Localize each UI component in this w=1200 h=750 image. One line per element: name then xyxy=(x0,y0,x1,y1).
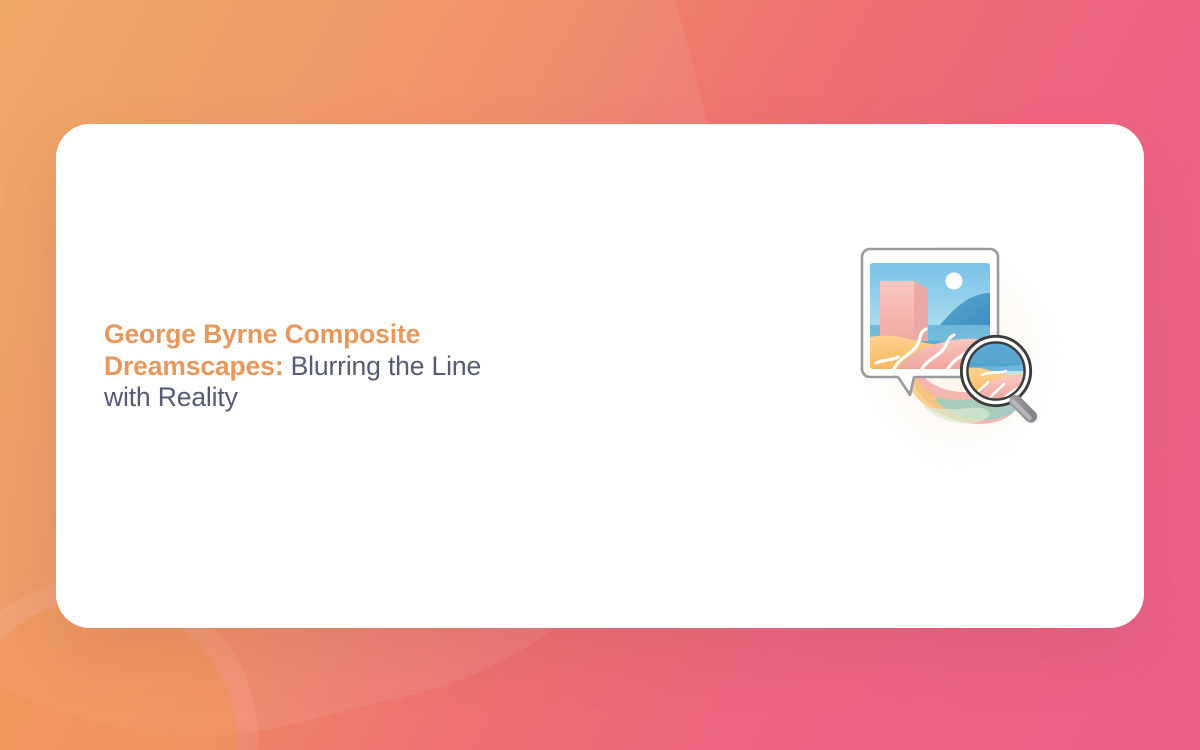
headline-block: George Byrne Composite Dreamscapes: Blur… xyxy=(104,319,504,414)
card-inner: George Byrne Composite Dreamscapes: Blur… xyxy=(56,124,1144,628)
content-card: George Byrne Composite Dreamscapes: Blur… xyxy=(56,124,1144,628)
sun-shape xyxy=(946,273,963,290)
building-front xyxy=(880,281,914,341)
page-title: George Byrne Composite Dreamscapes: Blur… xyxy=(104,319,504,414)
page-root: George Byrne Composite Dreamscapes: Blur… xyxy=(0,0,1200,750)
illustration-container xyxy=(836,229,1066,479)
photo-with-magnifier-icon xyxy=(836,229,1066,479)
